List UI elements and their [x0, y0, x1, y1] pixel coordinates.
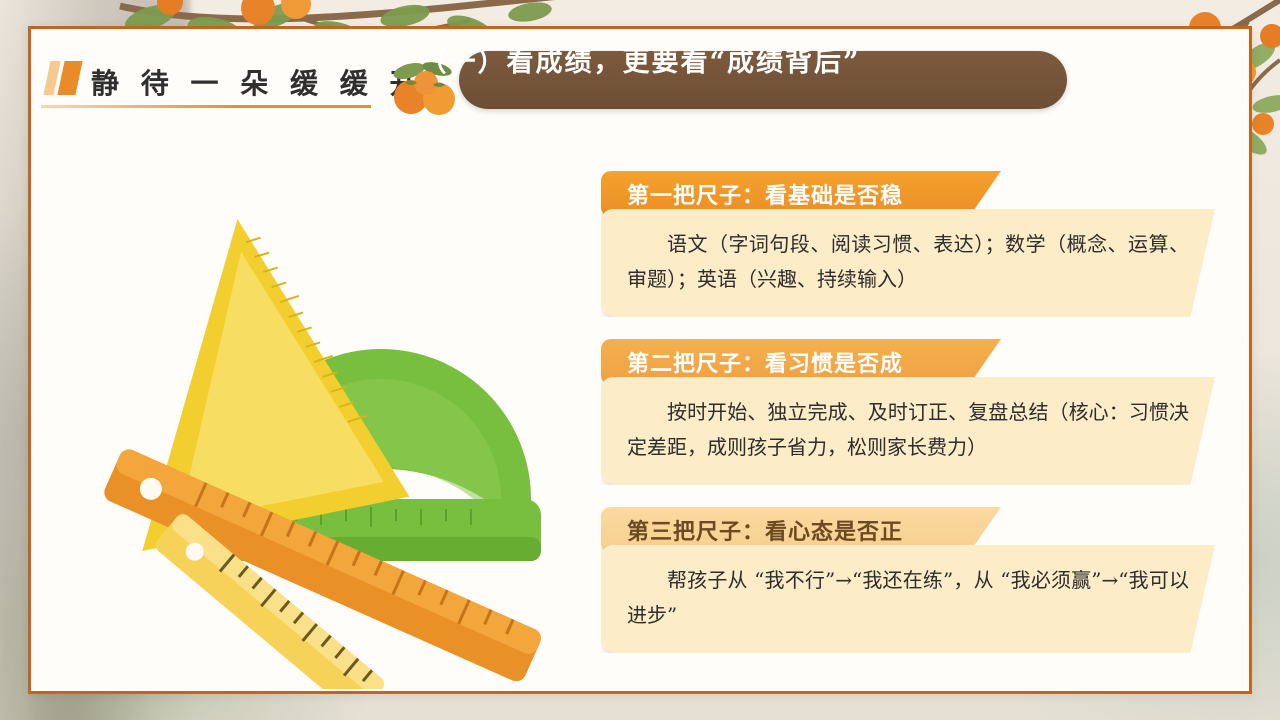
block-2-body: 按时开始、独立完成、及时订正、复盘总结（核心：习惯决定差距，成则孩子省力，松则家…: [601, 377, 1215, 485]
block-1-body: 语文（字词句段、阅读习惯、表达）；数学（概念、运算、审题）；英语（兴趣、持续输入…: [601, 209, 1215, 317]
content-block-3: 第三把尺子：看心态是否正 帮孩子从 “我不行”→“我还在练”，从 “我必须赢”→…: [601, 507, 1231, 653]
header-underline: [41, 105, 371, 108]
stationery-illustration: [71, 169, 591, 689]
header-pill-title: （一）看成绩，更要看“成绩背后”: [31, 40, 1249, 79]
block-2-body-text: 按时开始、独立完成、及时订正、复盘总结（核心：习惯决定差距，成则孩子省力，松则家…: [627, 395, 1189, 465]
block-3-body-text: 帮孩子从 “我不行”→“我还在练”，从 “我必须赢”→“我可以进步”: [627, 563, 1189, 633]
block-1-body-text: 语文（字词句段、阅读习惯、表达）；数学（概念、运算、审题）；英语（兴趣、持续输入…: [627, 227, 1189, 297]
content-block-1: 第一把尺子：看基础是否稳 语文（字词句段、阅读习惯、表达）；数学（概念、运算、审…: [601, 171, 1231, 317]
slide-root: 静 待 一 朵 缓 缓 开 （一）看成绩，更要看“成绩背后”: [0, 0, 1280, 720]
slide-card: 静 待 一 朵 缓 缓 开 （一）看成绩，更要看“成绩背后”: [28, 26, 1252, 694]
content-blocks: 第一把尺子：看基础是否稳 语文（字词句段、阅读习惯、表达）；数学（概念、运算、审…: [601, 171, 1231, 675]
content-block-2: 第二把尺子：看习惯是否成 按时开始、独立完成、及时订正、复盘总结（核心：习惯决定…: [601, 339, 1231, 485]
block-3-body: 帮孩子从 “我不行”→“我还在练”，从 “我必须赢”→“我可以进步”: [601, 545, 1215, 653]
